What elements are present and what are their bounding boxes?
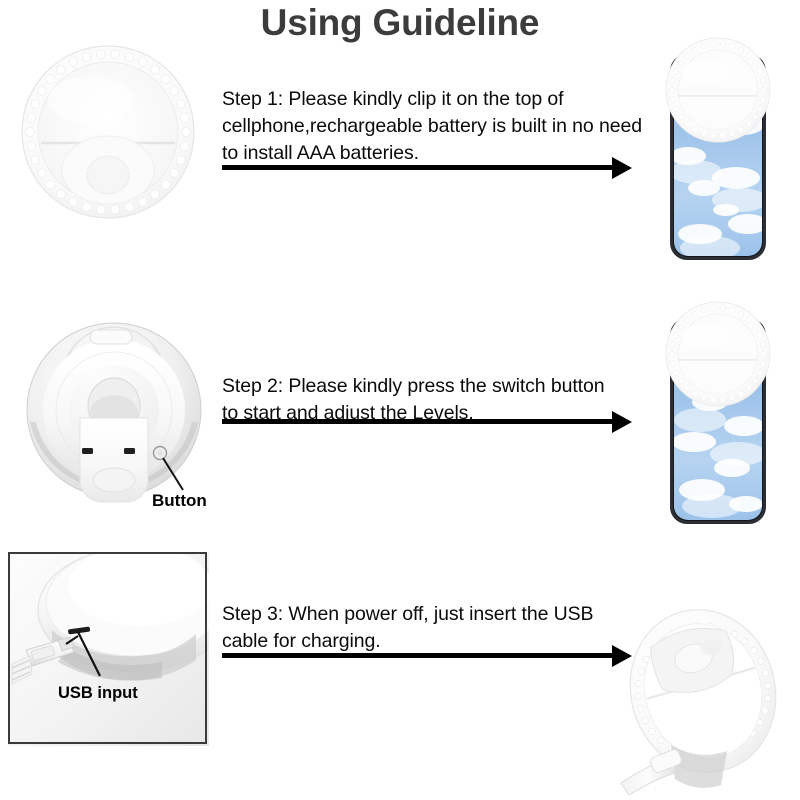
ring-light-with-usb-cable xyxy=(605,595,795,795)
infographic-page: Using Guideline xyxy=(0,0,800,800)
step-1-arrow-icon xyxy=(222,157,632,179)
button-callout-label: Button xyxy=(152,491,207,511)
arrow-shaft xyxy=(222,653,614,658)
step-2-arrow-icon xyxy=(222,411,632,433)
usb-port-closeup-photo xyxy=(8,552,209,746)
ring-light-front-view xyxy=(18,42,198,222)
phone-with-ring-light-step-2 xyxy=(648,292,788,542)
arrow-head xyxy=(612,411,632,433)
step-3-arrow-icon xyxy=(222,645,632,667)
arrow-shaft xyxy=(222,419,614,424)
arrow-head xyxy=(612,157,632,179)
usb-input-callout-label: USB input xyxy=(58,684,138,703)
step-1-text: Step 1: Please kindly clip it on the top… xyxy=(222,86,642,167)
arrow-shaft xyxy=(222,165,614,170)
phone-with-ring-light-step-1 xyxy=(648,28,788,278)
